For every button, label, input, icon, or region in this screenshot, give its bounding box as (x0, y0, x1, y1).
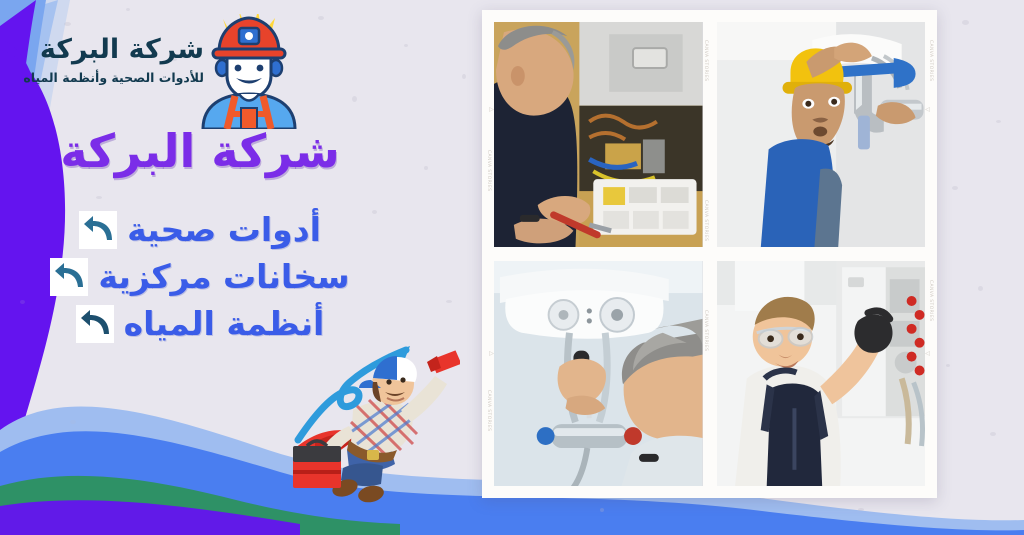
collage-photo-bottom-left[interactable] (494, 261, 703, 486)
collage-photo-bottom-right[interactable] (717, 261, 926, 486)
poster-canvas: شركة البركة للأدوات الصحية وأنظمة المياه (0, 0, 1024, 535)
frame-mark: CANVA STORIES (703, 310, 708, 351)
curved-arrow-left-icon (76, 305, 114, 343)
service-item-central-heaters[interactable]: سخانات مركزية (0, 253, 400, 300)
frame-mark: CANVA STORIES (486, 390, 491, 431)
frame-mark: CANVA STORIES (703, 200, 708, 241)
page-title: شركة البركة (0, 128, 400, 174)
photo-collage-card: CANVA STORIES CANVA STORIES CANVA STORIE… (482, 10, 937, 498)
frame-mark: CANVA STORIES (486, 150, 491, 191)
frame-mark: CANVA STORIES (928, 280, 933, 321)
service-item-plumbing-tools[interactable]: أدوات صحية (0, 206, 400, 253)
frame-tick: ◁ (924, 350, 931, 357)
frame-tick: ▷ (488, 350, 495, 357)
collage-photo-top-right[interactable] (717, 22, 926, 247)
frame-mark: CANVA STORIES (928, 40, 933, 81)
company-logo[interactable]: شركة البركة للأدوات الصحية وأنظمة المياه (14, 14, 314, 124)
worker-helmet-mascot-icon (189, 14, 309, 129)
frame-tick: ▷ (488, 106, 495, 113)
curved-arrow-left-icon (79, 211, 117, 249)
service-label: سخانات مركزية (98, 260, 349, 293)
frame-mark: CANVA STORIES (703, 40, 708, 81)
logo-subtitle: للأدوات الصحية وأنظمة المياه (24, 70, 204, 85)
frame-tick: ◁ (924, 106, 931, 113)
flying-plumber-mascot-icon (285, 338, 460, 513)
services-list: أدوات صحية سخانات مركزية أنظمة المياه (0, 206, 400, 347)
photo-grid (494, 22, 925, 486)
curved-arrow-left-icon (50, 258, 88, 296)
collage-photo-top-left[interactable] (494, 22, 703, 247)
logo-text-block: شركة البركة للأدوات الصحية وأنظمة المياه (24, 36, 204, 85)
logo-title: شركة البركة (24, 36, 204, 63)
service-label: أدوات صحية (127, 213, 321, 246)
